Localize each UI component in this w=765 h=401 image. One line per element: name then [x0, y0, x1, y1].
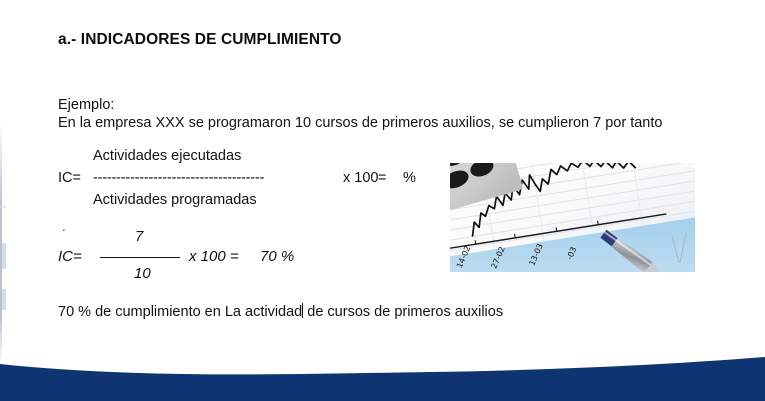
conclusion-text-after: de cursos de primeros auxilios	[303, 304, 503, 320]
numeric-formula-fraction-bar	[100, 257, 180, 258]
numeric-formula-result: 70 %	[260, 248, 294, 265]
formula-fraction-rule: -------------------------------------	[93, 170, 264, 186]
numeric-formula-numerator: 7	[135, 228, 143, 245]
formula-denominator: Actividades programadas	[93, 192, 257, 208]
formula-result: %	[403, 170, 416, 186]
slide-title: a.- INDICADORES DE CUMPLIMIENTO	[58, 31, 342, 49]
problem-statement: En la empresa XXX se programaron 10 curs…	[58, 115, 662, 131]
numeric-formula-lhs: IC=	[58, 248, 82, 265]
stray-mark: .	[62, 219, 66, 234]
finance-chart-photo: 14-02 27-02 13-03 -03	[450, 163, 695, 272]
left-edge-artifact	[0, 289, 6, 310]
example-label: Ejemplo:	[58, 97, 114, 113]
formula-multiplier: x 100	[343, 170, 378, 186]
bottom-accent-band	[0, 355, 765, 401]
left-edge-artifact	[0, 205, 6, 208]
left-edge-artifact	[0, 243, 6, 269]
numeric-formula-denominator: 10	[134, 265, 151, 282]
formula-equals-sign: =	[378, 170, 386, 186]
conclusion-text: 70 % de cumplimiento en La actividad de …	[58, 303, 503, 320]
formula-numerator: Actividades ejecutadas	[93, 148, 241, 164]
numeric-formula-multiplier: x 100 =	[189, 248, 239, 265]
conclusion-text-before: 70 % de cumplimiento en La actividad	[58, 304, 302, 320]
formula-lhs: IC=	[58, 170, 81, 186]
slide-canvas: a.- INDICADORES DE CUMPLIMIENTO Ejemplo:…	[0, 0, 765, 401]
